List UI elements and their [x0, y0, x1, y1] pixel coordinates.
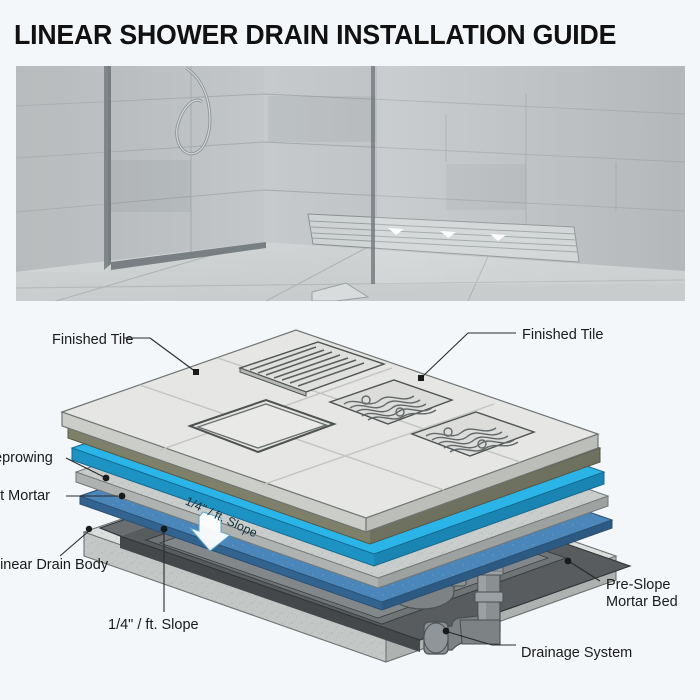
label-finished-tile-left: Finished Tile	[52, 332, 133, 349]
page-root: LINEAR SHOWER DRAIN INSTALLATION GUIDE	[0, 0, 700, 700]
label-finished-tile-right: Finished Tile	[522, 327, 603, 344]
shower-interior-photo	[16, 66, 685, 301]
label-pre-slope-line1: Pre-Slope	[606, 577, 670, 593]
title-bar: LINEAR SHOWER DRAIN INSTALLATION GUIDE	[0, 0, 700, 62]
label-wet-mortar: et Mortar	[0, 488, 50, 505]
exploded-assembly-diagram	[0, 300, 700, 700]
label-drainage-system: Drainage System	[521, 645, 632, 662]
page-title: LINEAR SHOWER DRAIN INSTALLATION GUIDE	[14, 19, 616, 51]
label-waterproofing: eprowing	[0, 450, 53, 467]
label-pre-slope-mortar-bed: Pre-Slope Mortar Bed	[606, 577, 700, 611]
label-pre-slope-line2: Mortar Bed	[606, 594, 678, 610]
label-slope-bottom: 1/4" / ft. Slope	[108, 617, 199, 634]
label-linear-drain-body: Linear Drain Body	[0, 557, 108, 574]
